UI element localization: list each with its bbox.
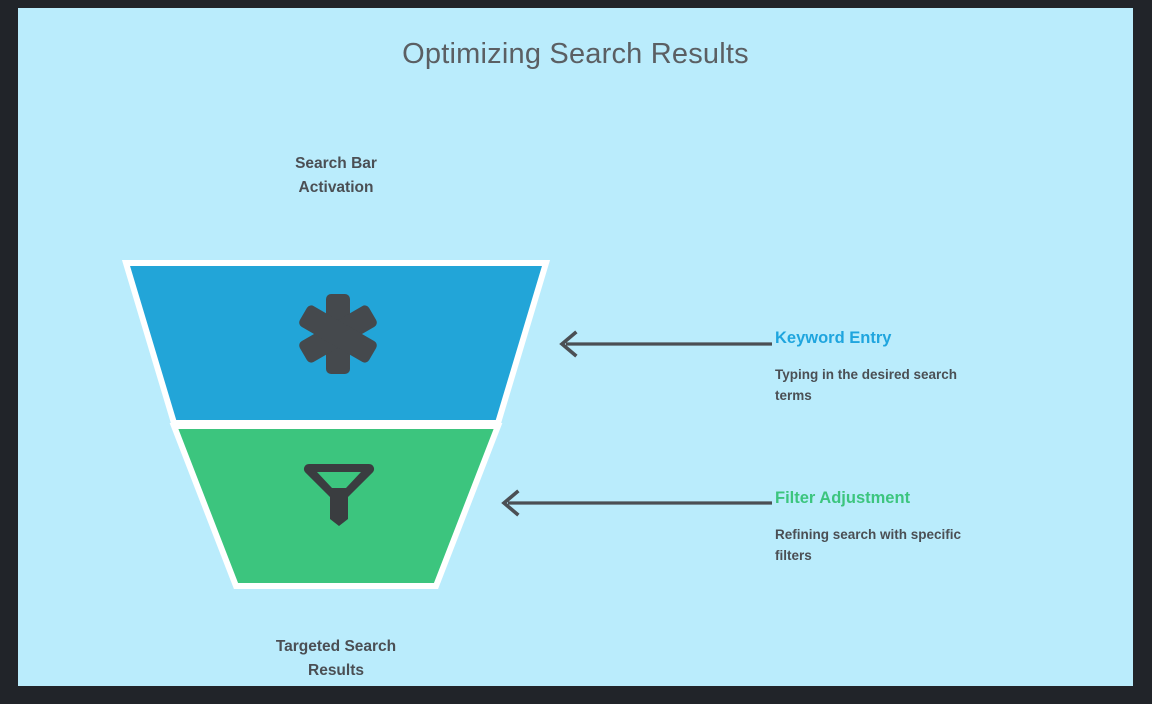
diagram-canvas: Optimizing Search Results Search Bar Act… xyxy=(18,8,1133,686)
left-arrow-icon-2 xyxy=(490,487,780,519)
funnel-shape xyxy=(106,248,576,603)
annotation-description: Typing in the desired search terms xyxy=(775,365,997,407)
funnel-top-label-line2: Activation xyxy=(206,176,466,200)
funnel-bottom-label: Targeted Search Results xyxy=(206,635,466,682)
funnel-segment-filter-adjustment[interactable] xyxy=(174,426,498,586)
funnel-bottom-label-line1: Targeted Search xyxy=(206,635,466,659)
annotation-title: Filter Adjustment xyxy=(775,489,1075,509)
funnel-segment-keyword-entry[interactable] xyxy=(126,263,546,423)
funnel-top-label: Search Bar Activation xyxy=(206,152,466,199)
left-arrow-icon-1 xyxy=(548,328,780,360)
annotation-description: Refining search with specific filters xyxy=(775,525,997,567)
funnel-bottom-label-line2: Results xyxy=(206,659,466,683)
page-title: Optimizing Search Results xyxy=(18,38,1133,71)
outer-frame: Optimizing Search Results Search Bar Act… xyxy=(0,0,1152,704)
funnel-top-label-line1: Search Bar xyxy=(206,152,466,176)
annotation-keyword-entry[interactable]: Keyword Entry Typing in the desired sear… xyxy=(775,329,1075,407)
annotation-title: Keyword Entry xyxy=(775,329,1075,349)
annotation-filter-adjustment[interactable]: Filter Adjustment Refining search with s… xyxy=(775,489,1075,567)
